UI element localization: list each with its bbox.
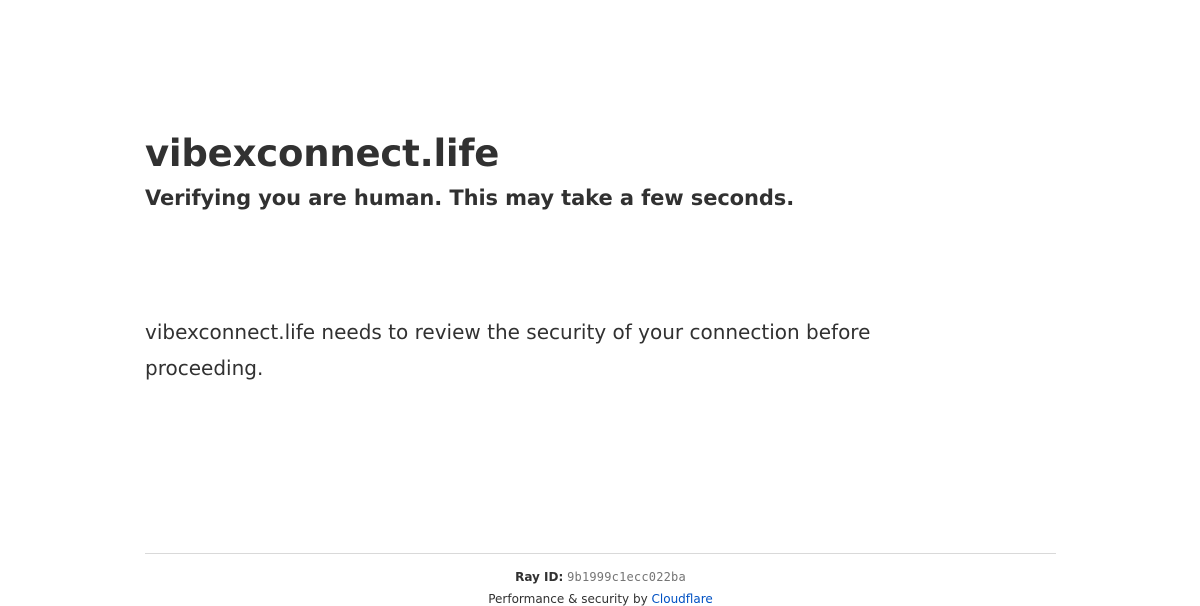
attribution-text: Performance & security by [488, 592, 651, 606]
page-footer: Ray ID: 9b1999c1ecc022ba Performance & s… [145, 554, 1056, 606]
page-title: vibexconnect.life [145, 132, 1056, 176]
ray-id-row: Ray ID: 9b1999c1ecc022ba [145, 554, 1056, 584]
ray-id-value: 9b1999c1ecc022ba [567, 570, 686, 584]
turnstile-verification-widget[interactable] [145, 235, 445, 300]
page-content: vibexconnect.life Verifying you are huma… [145, 0, 1056, 386]
main-section: vibexconnect.life Verifying you are huma… [145, 0, 1056, 386]
attribution-row: Performance & security by Cloudflare [145, 584, 1056, 606]
challenge-page: vibexconnect.life Verifying you are huma… [0, 0, 1200, 600]
security-review-message: vibexconnect.life needs to review the se… [145, 300, 945, 386]
ray-id-label: Ray ID: [515, 570, 563, 584]
verification-status-text: Verifying you are human. This may take a… [145, 185, 1056, 212]
cloudflare-link[interactable]: Cloudflare [652, 592, 713, 606]
